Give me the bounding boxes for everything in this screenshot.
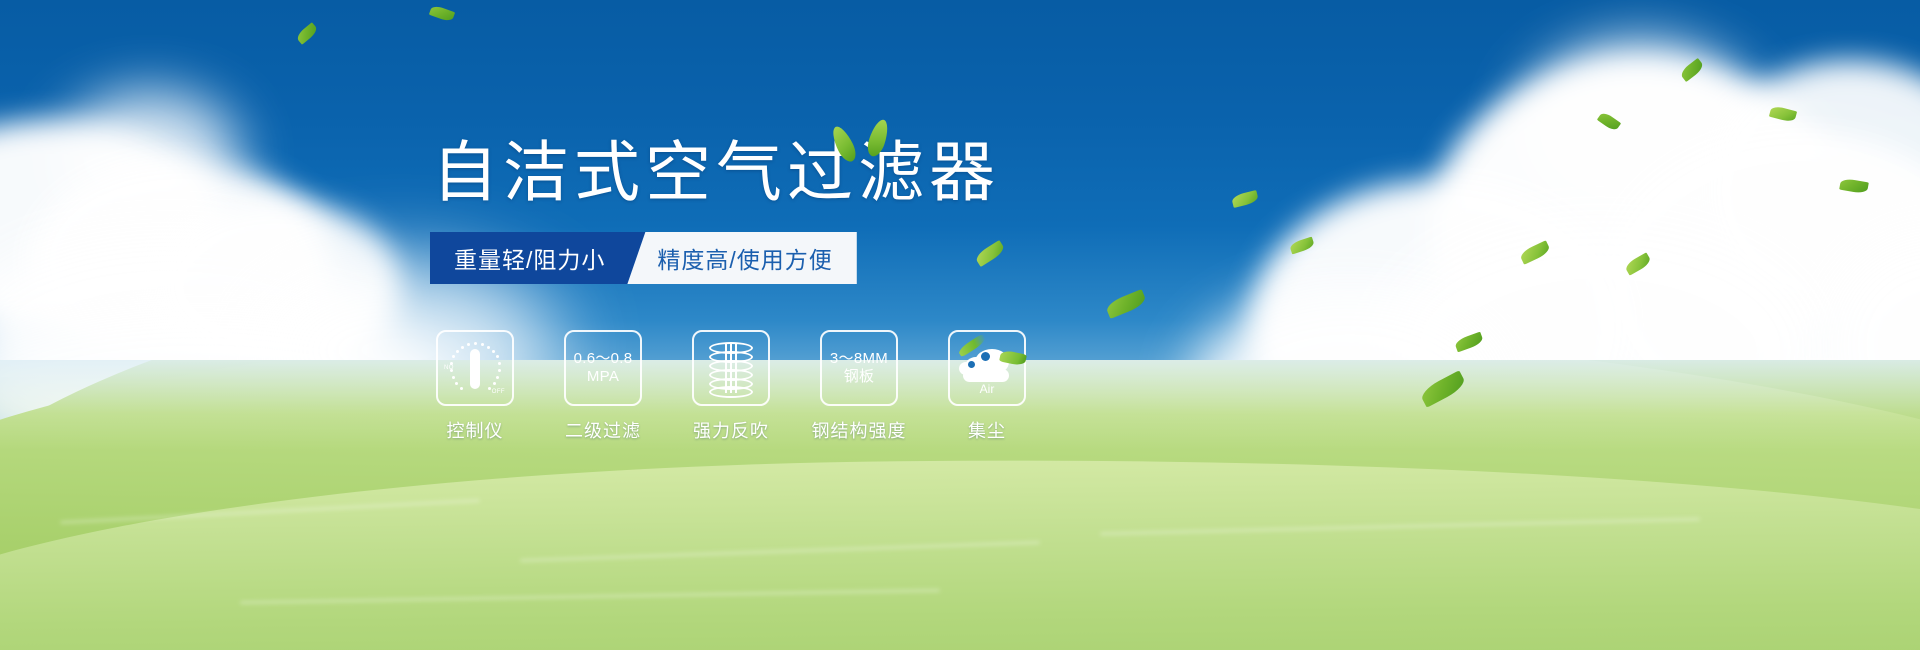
feature-item-backblow: 强力反吹 xyxy=(692,330,770,443)
leaf-icon xyxy=(865,117,892,158)
gauge-label-no: NO xyxy=(444,365,454,371)
feature-caption: 二级过滤 xyxy=(565,417,641,443)
feature-caption: 控制仪 xyxy=(447,417,504,443)
product-hero-banner: 自洁式空气过滤器 重量轻/阻力小 精度高/使用方便 xyxy=(0,0,1920,650)
feature-item-control-gauge: NO OFF 控制仪 xyxy=(436,330,514,443)
subtitle-pill-left: 重量轻/阻力小 xyxy=(430,232,645,284)
feature-icon-row: NO OFF 控制仪 0.6〜0.8 MPA 二级过滤 xyxy=(436,330,1026,443)
gauge-needle-icon xyxy=(470,349,480,389)
coil-stem xyxy=(725,343,737,393)
feature-caption: 强力反吹 xyxy=(693,417,769,443)
air-label: Air xyxy=(959,382,1015,396)
coil-filter-icon xyxy=(705,341,757,395)
hero-content: 自洁式空气过滤器 重量轻/阻力小 精度高/使用方便 xyxy=(0,0,1920,650)
steel-value-line1: 3〜8MM xyxy=(830,350,888,368)
feature-item-dust-collection: Air 集尘 xyxy=(948,330,1026,443)
pressure-value-line2: MPA xyxy=(587,368,619,386)
page-title: 自洁式空气过滤器 xyxy=(432,139,1000,205)
steel-value-line2: 钢板 xyxy=(844,368,875,386)
feature-icon-box: NO OFF xyxy=(436,330,514,406)
feature-icon-box xyxy=(692,330,770,406)
feature-icon-box: 3〜8MM 钢板 xyxy=(820,330,898,406)
feature-caption: 钢结构强度 xyxy=(812,417,907,443)
feature-item-pressure: 0.6〜0.8 MPA 二级过滤 xyxy=(564,330,642,443)
subtitle-bar: 重量轻/阻力小 精度高/使用方便 xyxy=(430,232,857,284)
feature-icon-box: 0.6〜0.8 MPA xyxy=(564,330,642,406)
gauge-label-off: OFF xyxy=(492,389,505,395)
feature-caption: 集尘 xyxy=(968,417,1006,443)
title-sprout-icon xyxy=(836,115,896,163)
feature-item-steel: 3〜8MM 钢板 钢结构强度 xyxy=(820,330,898,443)
gauge-icon: NO OFF xyxy=(446,340,504,396)
pressure-value-line1: 0.6〜0.8 xyxy=(574,350,633,368)
feature-icon-box: Air xyxy=(948,330,1026,406)
subtitle-pill-right: 精度高/使用方便 xyxy=(627,232,856,284)
